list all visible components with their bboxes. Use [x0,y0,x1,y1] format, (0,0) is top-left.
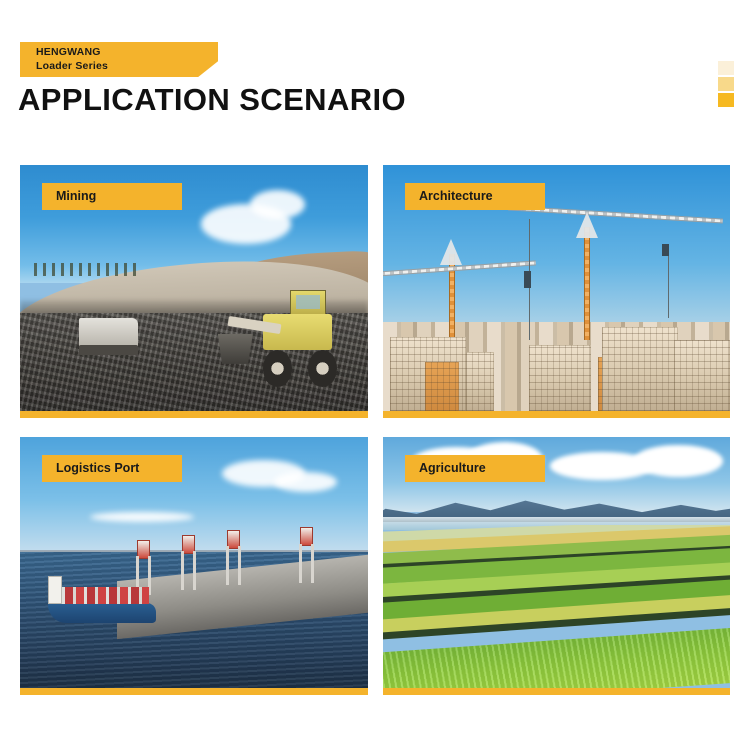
card-accent-bar [20,688,368,695]
gantry-leg [311,544,314,583]
scenario-card-mining[interactable]: Mining [20,165,368,418]
card-label-architecture: Architecture [405,183,545,210]
card-label-agriculture: Agriculture [405,455,545,482]
loader-bucket [218,334,253,364]
gantry-leg [226,546,229,585]
gantry-crane [225,530,242,585]
brand-banner: HENGWANG Loader Series [20,42,218,77]
farmland-fields [383,525,730,688]
cargo-containers [54,587,149,604]
crane-apex [576,212,598,238]
cloud-icon [250,190,306,220]
building [674,340,730,411]
gantry-crane [180,535,197,590]
loader-wheel [263,350,292,387]
crane-apex [440,239,462,265]
crane-cable [668,249,669,318]
gantry-leg [238,546,241,585]
page-header: HENGWANG Loader Series APPLICATION SCENA… [0,0,750,150]
ship-bridge [48,576,62,604]
card-accent-bar [383,411,730,418]
building [425,362,460,411]
brand-name: HENGWANG [36,45,218,59]
wheel-loader [225,300,350,384]
crane-hook [662,244,669,256]
ridge-trees [34,263,138,275]
decoration-squares [718,61,734,109]
card-accent-bar [383,688,730,695]
scenario-card-architecture[interactable]: Architecture [383,165,730,418]
gantry-crane [298,527,315,582]
building [466,352,494,411]
brand-series: Loader Series [36,59,218,73]
square-light-icon [718,61,734,75]
card-label-mining: Mining [42,183,182,210]
square-solid-icon [718,93,734,107]
haul-truck [79,318,138,348]
card-label-logistics: Logistics Port [42,455,182,482]
gantry-leg [193,551,196,590]
scenario-card-grid: Mining [20,165,730,695]
crane-mast [584,227,590,340]
building [529,345,591,411]
gantry-leg [181,551,184,590]
gantry-leg [299,544,302,583]
loader-wheel [308,350,337,387]
crane-hook [524,271,531,283]
page-title: APPLICATION SCENARIO [18,82,406,118]
scenario-card-logistics[interactable]: Logistics Port [20,437,368,695]
square-medium-icon [718,77,734,91]
scenario-card-agriculture[interactable]: Agriculture [383,437,730,695]
building [602,327,678,411]
cloud-icon [274,472,337,492]
crane-cable [529,219,530,273]
cloud-icon [633,445,723,478]
card-accent-bar [20,411,368,418]
container-ship [48,603,156,623]
